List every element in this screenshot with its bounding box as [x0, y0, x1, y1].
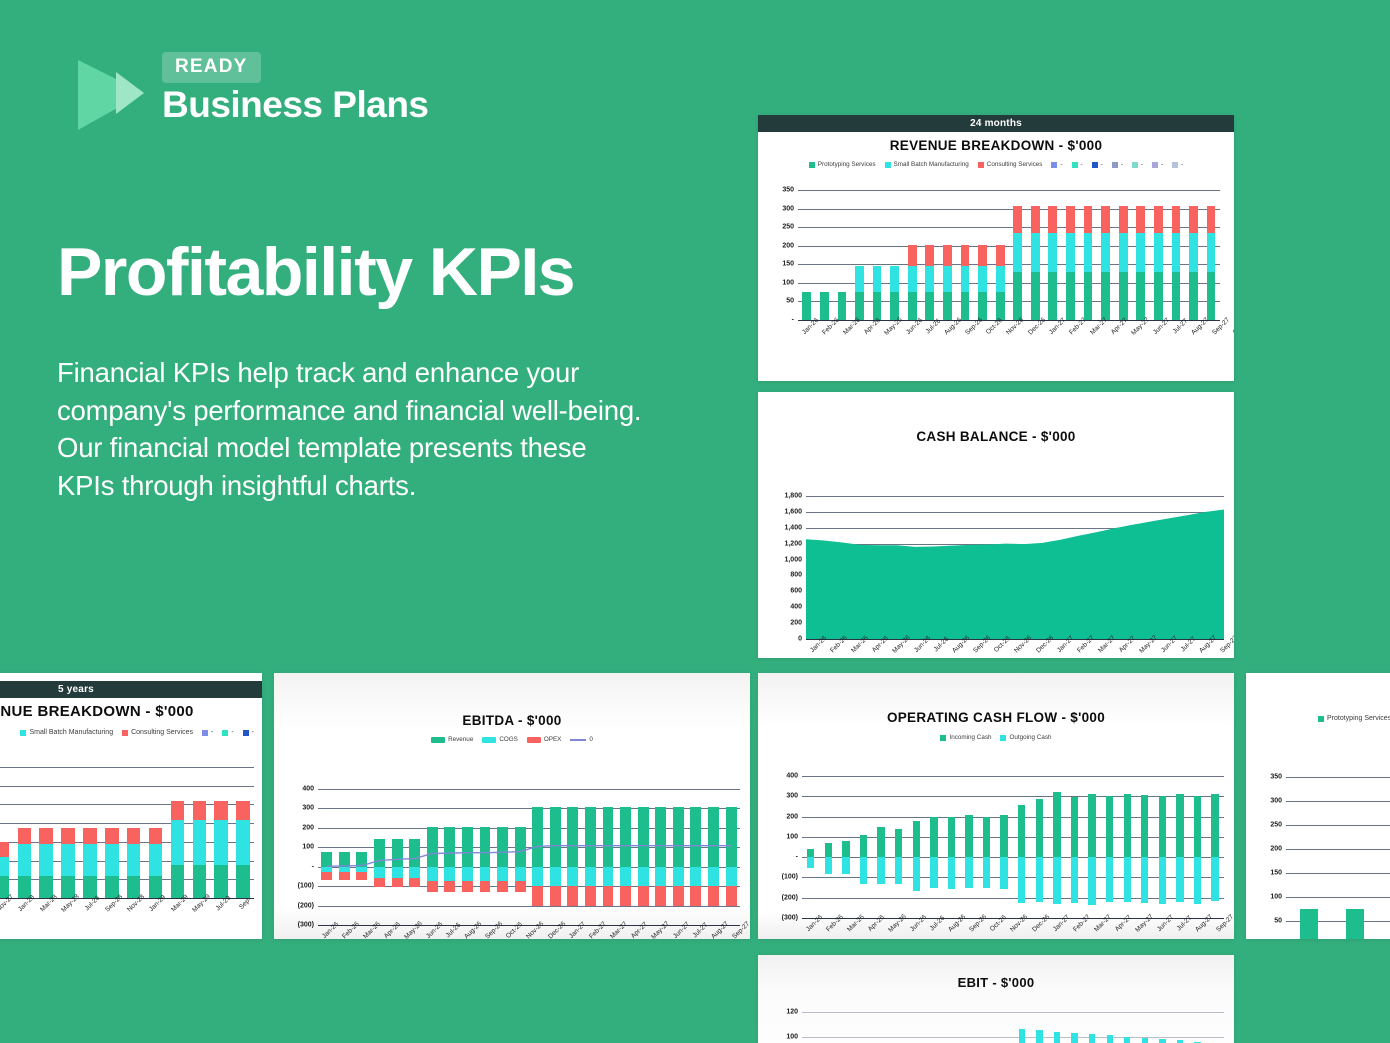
bar-segment — [930, 857, 937, 888]
bar-segment — [171, 820, 185, 865]
x-axis-tick-cell: May-26 — [888, 642, 910, 649]
bar-segment — [1071, 857, 1078, 903]
card-revenue-breakdown-5-years[interactable]: 5 years REVENUE BREAKDOWN - $'000 Small … — [0, 673, 262, 939]
bar-segment — [965, 857, 972, 888]
bar — [1036, 1030, 1042, 1043]
x-axis-tick-cell: Oct-26 — [990, 642, 1010, 649]
x-axis-tick-cell: Aug-26 — [948, 642, 969, 649]
bar-column[interactable] — [145, 767, 167, 898]
x-axis-tick-cell: Jan-27 — [1045, 324, 1065, 331]
legend-label: - — [1161, 161, 1163, 168]
bar-segment — [214, 820, 228, 865]
y-axis-label: 800 — [790, 572, 802, 579]
y-axis-label: (300) — [298, 922, 314, 929]
bar-segment — [1048, 272, 1057, 320]
bar-segment — [1211, 857, 1218, 901]
bar-column[interactable] — [1206, 1012, 1224, 1043]
bar-column[interactable] — [1132, 190, 1150, 320]
plot-ocf: (300)(200)(100)-100200300400 — [802, 776, 1224, 918]
bar-column[interactable] — [851, 190, 869, 320]
y-axis-label: 350 — [782, 187, 794, 194]
x-axis-tick-cell: Jul-26 — [922, 324, 940, 331]
y-axis-label: 300 — [1270, 798, 1282, 805]
x-axis-tick-cell: Oct-27 — [1233, 921, 1234, 928]
x-axis-tick-cell: May-27 — [1127, 324, 1149, 331]
y-axis-label: (300) — [782, 915, 798, 922]
bar-segment — [1172, 272, 1181, 320]
bar-segment — [961, 245, 970, 267]
bar-column[interactable] — [802, 776, 820, 918]
bar-segment — [961, 292, 970, 320]
legend-swatch-lightteal — [1132, 162, 1138, 168]
y-axis-label: 100 — [786, 833, 798, 840]
x-axis-tick-cell: Aug-26 — [944, 921, 965, 928]
bar-segment — [214, 801, 228, 820]
legend-ebitda: Revenue COGS OPEX 0 — [274, 736, 750, 743]
bar-column[interactable] — [35, 767, 57, 898]
card-cash-balance[interactable]: CASH BALANCE - $'000 02004006008001,0001… — [758, 392, 1234, 658]
x-axis-tick-cell: Jun-27 — [669, 928, 689, 935]
bar-column[interactable] — [1009, 190, 1027, 320]
y-axis-label: 600 — [790, 588, 802, 595]
legend-item[interactable]: Consulting Services — [978, 161, 1043, 168]
bar-column[interactable] — [995, 776, 1013, 918]
bar-segment — [908, 266, 917, 292]
bar-segment — [1119, 206, 1128, 233]
x-axis-tick-cell: Sep-28 — [101, 901, 123, 908]
bar-column[interactable] — [939, 190, 957, 320]
bar-column[interactable] — [991, 190, 1009, 320]
bar-column[interactable] — [974, 190, 992, 320]
legend-swatch-darkblue — [243, 730, 249, 736]
x-axis-tick-cell: Feb-26 — [822, 921, 843, 928]
bar-column[interactable] — [837, 776, 855, 918]
bar-column[interactable] — [1031, 776, 1049, 918]
bar-column[interactable] — [167, 767, 189, 898]
legend-swatch-cogs — [482, 737, 496, 743]
y-axis-label: 250 — [782, 224, 794, 231]
bar-segment — [1154, 233, 1163, 272]
legend-item[interactable]: - — [1152, 161, 1163, 168]
bar-column[interactable] — [816, 190, 834, 320]
bar-column[interactable] — [1154, 1012, 1172, 1043]
legend-item[interactable]: Small Batch Manufacturing — [20, 729, 113, 736]
legend-item[interactable]: Incoming Cash — [940, 734, 991, 741]
bar-column[interactable] — [210, 767, 232, 898]
x-axis-tick-cell: Feb-27 — [1073, 642, 1094, 649]
bar-column[interactable] — [1150, 190, 1168, 320]
x-axis-tick-cell: Mar-27 — [1090, 921, 1111, 928]
bar-column[interactable] — [820, 776, 838, 918]
bar — [1107, 1035, 1113, 1043]
bar-segment — [1300, 909, 1317, 939]
bar-column[interactable] — [232, 767, 254, 898]
x-axis-tick-cell: Jul-27 — [1173, 921, 1191, 928]
bar-segment — [236, 801, 250, 820]
bar-segment — [171, 801, 185, 820]
bar-column[interactable] — [188, 767, 210, 898]
bar-segment — [1106, 796, 1113, 857]
plot-cash-balance: 02004006008001,0001,2001,4001,6001,800 — [806, 496, 1224, 639]
card-revenue-breakdown-24-months[interactable]: 24 months REVENUE BREAKDOWN - $'000 Prot… — [758, 115, 1234, 381]
x-axis-tick-cell: Sep-27 — [1216, 642, 1234, 649]
bar — [1071, 1033, 1077, 1043]
legend-label: - — [1060, 161, 1062, 168]
legend-item[interactable]: - — [1051, 161, 1062, 168]
bar-segment — [860, 835, 867, 857]
bar-segment — [978, 292, 987, 320]
bar-segment — [1136, 206, 1145, 233]
bar-column[interactable] — [1013, 776, 1031, 918]
x-axis-tick-cell: Oct-27 — [1229, 324, 1234, 331]
legend-item[interactable]: Outgoing Cash — [1000, 734, 1051, 741]
x-axis-tick-cell: Feb-27 — [585, 928, 606, 935]
x-axis-tick-cell: Jun-27 — [1153, 921, 1173, 928]
bar-segment — [1124, 794, 1131, 857]
x-axis-tick-cell: Mar-27 — [1094, 642, 1115, 649]
bar-column[interactable] — [1167, 190, 1185, 320]
x-axis-tick-cell: Aug-26 — [460, 928, 481, 935]
bar-column[interactable] — [1189, 1012, 1207, 1043]
bar-column[interactable] — [1066, 776, 1084, 918]
legend-label: OPEX — [544, 736, 562, 743]
card-operating-cash-flow[interactable]: OPERATING CASH FLOW - $'000 Incoming Cas… — [758, 673, 1234, 939]
x-axis-tick-cell: Apr-26 — [864, 921, 884, 928]
bar-column[interactable] — [1136, 1012, 1154, 1043]
y-axis-label: (200) — [782, 894, 798, 901]
bar-segment — [1031, 206, 1040, 233]
bar-segment — [855, 266, 864, 292]
bar-segment — [1189, 272, 1198, 320]
xaxis-revenue-24: Jan-26Feb-26Mar-26Apr-26May-26Jun-26Jul-… — [798, 324, 1220, 331]
bar-segment — [39, 828, 53, 844]
bar-segment — [842, 857, 849, 874]
xaxis-ebitda: Jan-26Feb-26Mar-26Apr-26May-26Jun-26Jul-… — [318, 928, 740, 935]
bar-column[interactable] — [79, 767, 101, 898]
legend-label: Prototyping Services — [818, 161, 876, 168]
bar-segment — [1154, 272, 1163, 320]
bar-segment — [943, 245, 952, 267]
legend-revenue-5y: Small Batch Manufacturing Consulting Ser… — [0, 729, 262, 736]
bar-column[interactable] — [1062, 190, 1080, 320]
bar-column[interactable] — [1118, 1012, 1136, 1043]
card-ebitda[interactable]: EBITDA - $'000 Revenue COGS OPEX 0 (300)… — [274, 673, 750, 939]
x-axis-tick-cell: Apr-27 — [1115, 642, 1135, 649]
plot-revenue-right: -50100150200250300350 — [1286, 777, 1390, 939]
bar-segment — [1101, 206, 1110, 233]
bar-column[interactable] — [978, 776, 996, 918]
legend-item[interactable]: - — [1072, 161, 1083, 168]
bar-segment — [913, 857, 920, 890]
legend-item[interactable]: Revenue — [431, 736, 473, 743]
legend-item[interactable]: Small Batch Manufacturing — [885, 161, 969, 168]
x-axis-tick-cell: Nov-26 — [522, 928, 543, 935]
bar-column[interactable] — [903, 190, 921, 320]
bar-segment — [236, 820, 250, 865]
bar-segment — [978, 266, 987, 292]
page-description: Financial KPIs help track and enhance yo… — [57, 354, 647, 505]
y-axis-label: 400 — [790, 604, 802, 611]
y-axis-label: 50 — [1274, 918, 1282, 925]
bar-segment — [1176, 794, 1183, 857]
bar-segment — [1084, 206, 1093, 233]
bar-segment — [1031, 233, 1040, 272]
legend-swatch-green — [1318, 716, 1324, 722]
legend-swatch-grayblue — [1112, 162, 1118, 168]
x-axis-tick-cell: Jul-29 — [210, 901, 232, 908]
chart-title-revenue-24: REVENUE BREAKDOWN - $'000 — [758, 138, 1234, 153]
bar-segment — [193, 865, 207, 898]
band-5-years: 5 years — [0, 681, 262, 698]
bar-column[interactable] — [1189, 776, 1207, 918]
chart-title-cash-balance: CASH BALANCE - $'000 — [758, 429, 1234, 444]
bar-column[interactable] — [1118, 776, 1136, 918]
bar-column[interactable] — [907, 776, 925, 918]
legend-item[interactable]: - — [202, 729, 213, 736]
x-axis-tick-cell: Feb-27 — [1069, 921, 1090, 928]
bar-column[interactable] — [1202, 190, 1220, 320]
bar-column[interactable] — [1013, 1012, 1031, 1043]
bar-column[interactable] — [890, 776, 908, 918]
y-axis-label: 100 — [786, 1034, 798, 1041]
card-ebit[interactable]: EBIT - $'000 80100120 — [758, 955, 1234, 1043]
bar-column[interactable] — [57, 767, 79, 898]
y-axis-label: - — [792, 317, 794, 324]
bar-column[interactable] — [960, 776, 978, 918]
y-axis-label: 120 — [786, 1009, 798, 1016]
bar-column[interactable] — [872, 776, 890, 918]
bar-column[interactable] — [1286, 777, 1332, 939]
bar-segment — [1106, 857, 1113, 902]
bar-segment — [908, 245, 917, 267]
legend-item[interactable]: - — [1092, 161, 1103, 168]
x-axis-tick-cell: Apr-27 — [627, 928, 647, 935]
legend-label: Outgoing Cash — [1009, 734, 1051, 741]
bar-column[interactable] — [943, 776, 961, 918]
legend-label: 0 — [589, 736, 593, 743]
bar-column[interactable] — [1185, 190, 1203, 320]
legend-swatch-cyan — [885, 162, 891, 168]
bar-segment — [1189, 233, 1198, 272]
bar — [1054, 1032, 1060, 1043]
bar-segment — [1018, 857, 1025, 903]
x-axis-tick-cell: Apr-27 — [1107, 324, 1127, 331]
bar-segment — [860, 857, 867, 883]
bar-column[interactable] — [1206, 776, 1224, 918]
x-axis-tick-cell: May-26 — [880, 324, 902, 331]
plot-revenue-24: -50100150200250300350 — [798, 190, 1220, 320]
y-axis-label: 200 — [786, 813, 798, 820]
bar-segment — [908, 292, 917, 320]
bar-column[interactable] — [1048, 776, 1066, 918]
bar-column[interactable] — [1066, 1012, 1084, 1043]
bar-column[interactable] — [1048, 1012, 1066, 1043]
bar-column[interactable] — [855, 776, 873, 918]
x-axis-tick-cell: Jan-27 — [565, 928, 585, 935]
y-axis-label: 50 — [786, 298, 794, 305]
legend-item[interactable]: - — [243, 729, 254, 736]
bar-segment — [1141, 857, 1148, 903]
y-axis-label: 200 — [790, 620, 802, 627]
y-axis-label: 200 — [782, 242, 794, 249]
bar-column[interactable] — [1101, 776, 1119, 918]
legend-swatch-palegray — [1172, 162, 1178, 168]
bar-column[interactable] — [1101, 1012, 1119, 1043]
legend-label: - — [1121, 161, 1123, 168]
bar-segment — [1124, 857, 1131, 902]
bar-segment — [1066, 233, 1075, 272]
bar-segment — [1053, 857, 1060, 904]
x-axis-tick-label: Oct-27 — [1232, 317, 1234, 336]
x-axis-tick-cell: Dec-26 — [1032, 642, 1053, 649]
bar-column[interactable] — [1031, 1012, 1049, 1043]
bar-segment — [1176, 857, 1183, 902]
legend-label: - — [1181, 161, 1183, 168]
bar-column[interactable] — [101, 767, 123, 898]
legend-swatch-revenue — [431, 737, 445, 743]
bar-group — [1286, 777, 1390, 939]
x-axis-tick-cell: Oct-26 — [982, 324, 1002, 331]
x-axis-tick-cell: Jul-27 — [1169, 324, 1187, 331]
bar-column[interactable] — [956, 190, 974, 320]
bar-column[interactable] — [1378, 777, 1390, 939]
bar-column[interactable] — [1332, 777, 1378, 939]
y-axis-label: 300 — [302, 805, 314, 812]
bar-column[interactable] — [0, 767, 13, 898]
chart-title-ebit: EBIT - $'000 — [758, 975, 1234, 990]
x-axis-tick-cell: Feb-26 — [338, 928, 359, 935]
y-axis-label: 300 — [782, 205, 794, 212]
bar-segment — [1013, 272, 1022, 320]
legend-item[interactable]: - — [1112, 161, 1123, 168]
bar-segment — [825, 857, 832, 874]
bar-segment — [890, 266, 899, 292]
x-axis-tick-cell: Jan-26 — [318, 928, 338, 935]
plot-ebit: 80100120 — [802, 1012, 1224, 1043]
bar-column[interactable] — [925, 776, 943, 918]
bar-segment — [925, 292, 934, 320]
bar-segment — [1000, 857, 1007, 889]
bar-segment — [1136, 272, 1145, 320]
x-axis-tick-cell: Mar-27 — [1086, 324, 1107, 331]
x-axis-tick-cell: Mar-27 — [606, 928, 627, 935]
x-axis-tick-cell: Jun-26 — [906, 921, 926, 928]
bar-segment — [873, 266, 882, 292]
legend-label: Consulting Services — [131, 729, 193, 736]
bar-segment — [1101, 272, 1110, 320]
legend-swatch-cyan — [20, 730, 26, 736]
bar-column[interactable] — [833, 190, 851, 320]
bar-column[interactable] — [798, 190, 816, 320]
legend-label: - — [1141, 161, 1143, 168]
legend-label: COGS — [499, 736, 518, 743]
x-axis-tick-cell: Jun-26 — [910, 642, 930, 649]
legend-label: - — [252, 729, 254, 736]
bar-column[interactable] — [1097, 190, 1115, 320]
bar-column[interactable] — [1079, 190, 1097, 320]
bar-column[interactable] — [1171, 1012, 1189, 1043]
bar-segment — [965, 815, 972, 857]
x-axis-tick-cell: Sep-26 — [965, 921, 986, 928]
bar-segment — [61, 828, 75, 844]
bar-segment — [1066, 206, 1075, 233]
legend-item[interactable]: - — [1172, 161, 1183, 168]
x-axis-tick-cell: Mar-26 — [847, 642, 868, 649]
x-axis-tick-cell: Dec-26 — [544, 928, 565, 935]
bar-segment — [1048, 206, 1057, 233]
legend-item[interactable]: - — [1132, 161, 1143, 168]
x-axis-tick-cell: Nov-26 — [1010, 642, 1031, 649]
legend-item[interactable]: Consulting Services — [122, 729, 193, 736]
bar-segment — [1194, 796, 1201, 857]
bar-segment — [1189, 206, 1198, 233]
bar-segment — [948, 857, 955, 888]
bar-column[interactable] — [1114, 190, 1132, 320]
legend-item[interactable]: Prototyping Services — [809, 161, 876, 168]
bar-segment — [83, 828, 97, 844]
bar-column[interactable] — [1083, 1012, 1101, 1043]
bar-column[interactable] — [886, 190, 904, 320]
legend-item[interactable]: 0 — [570, 736, 593, 743]
page-title: Profitability KPIs — [57, 238, 574, 306]
bar — [1142, 1038, 1148, 1043]
bar-segment — [214, 865, 228, 898]
bar-column[interactable] — [1136, 776, 1154, 918]
bar-segment — [105, 828, 119, 844]
legend-item[interactable]: Prototyping Services — [1318, 715, 1390, 722]
x-axis-tick-cell: Aug-27 — [1191, 921, 1212, 928]
x-axis-tick-cell: May-28 — [57, 901, 79, 908]
bar-segment — [149, 828, 163, 844]
bar-column[interactable] — [921, 190, 939, 320]
bar-segment — [1159, 796, 1166, 857]
bar — [1124, 1037, 1130, 1043]
legend-revenue-24: Prototyping Services Small Batch Manufac… — [758, 161, 1234, 168]
bar-column[interactable] — [868, 190, 886, 320]
card-revenue-breakdown-right[interactable]: Prototyping Services -501001502002503003… — [1246, 673, 1390, 939]
legend-item[interactable]: OPEX — [527, 736, 562, 743]
legend-item[interactable]: COGS — [482, 736, 518, 743]
bar-segment — [1066, 272, 1075, 320]
legend-swatch-incoming-cash — [940, 735, 946, 741]
bar-column[interactable] — [123, 767, 145, 898]
bar-segment — [18, 828, 32, 844]
bar-segment — [1207, 272, 1216, 320]
bar-segment — [1088, 857, 1095, 905]
bar-segment — [1154, 206, 1163, 233]
x-axis-tick-cell: Jan-26 — [802, 921, 822, 928]
bar-column[interactable] — [1083, 776, 1101, 918]
y-axis-label: 0 — [798, 636, 802, 643]
bar-column[interactable] — [1171, 776, 1189, 918]
bar-segment — [18, 844, 32, 876]
bar-segment — [127, 844, 141, 876]
bar-column[interactable] — [1044, 190, 1062, 320]
legend-revenue-right: Prototyping Services — [1246, 715, 1390, 722]
x-axis-tick-cell: Jul-27 — [1177, 642, 1195, 649]
x-axis-tick-cell: May-26 — [400, 928, 422, 935]
legend-item[interactable]: - — [222, 729, 233, 736]
bar-column[interactable] — [1027, 190, 1045, 320]
bar-column[interactable] — [13, 767, 35, 898]
x-axis-line — [0, 898, 254, 899]
y-axis-label: 100 — [1270, 894, 1282, 901]
plot-revenue-5y: -50100150200250300350 — [0, 767, 254, 898]
legend-label: - — [1081, 161, 1083, 168]
bar-column[interactable] — [1154, 776, 1172, 918]
x-axis-tick-cell: Mar-28 — [35, 901, 57, 908]
bar-segment — [193, 820, 207, 865]
